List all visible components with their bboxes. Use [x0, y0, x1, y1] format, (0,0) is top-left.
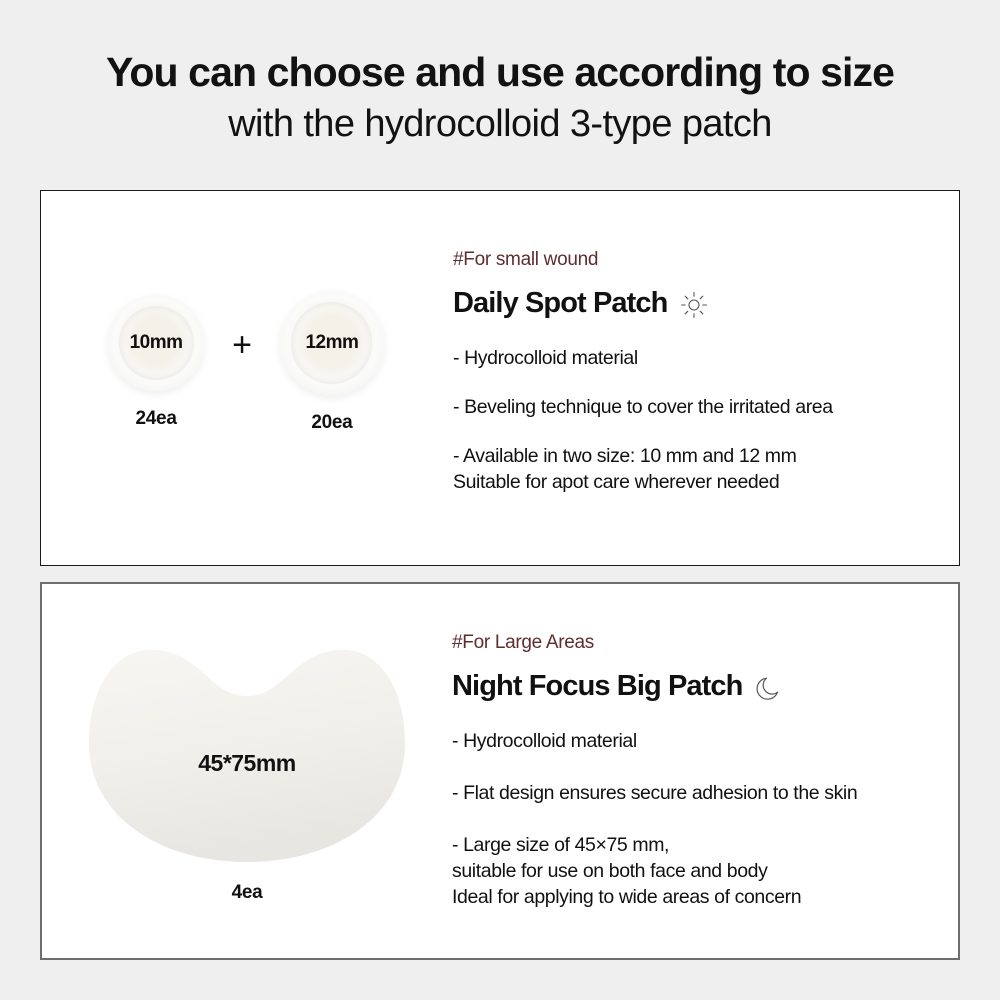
product-tag-small-wound: #For small wound	[453, 249, 953, 271]
product-title-night: Night Focus Big Patch	[452, 670, 742, 703]
headline-line-2: with the hydrocolloid 3-type patch	[0, 102, 1000, 148]
bullet-item: - Hydrocolloid material	[453, 346, 953, 372]
patch-count-label-10mm: 24ea	[136, 408, 177, 430]
product-title-daily: Daily Spot Patch	[453, 287, 667, 320]
patch-circle-12mm: 12mm	[280, 291, 384, 395]
patch-size-label-10mm: 10mm	[130, 332, 183, 354]
bullet-item: - Available in two size: 10 mm and 12 mm…	[453, 444, 953, 496]
product-card-night-focus-big-patch: 45*75mm 4ea #For Large Areas Night Focus…	[40, 582, 960, 960]
spot-patch-10mm: 10mm 24ea	[108, 295, 204, 430]
patch-count-label-12mm: 20ea	[311, 412, 352, 434]
product-title-row-daily: Daily Spot Patch	[453, 287, 953, 320]
headline-line-1: You can choose and use according to size	[0, 50, 1000, 96]
spot-patch-12mm: 12mm 20ea	[280, 291, 384, 434]
page-title: You can choose and use according to size…	[0, 50, 1000, 148]
bullet-item: - Hydrocolloid material	[452, 729, 952, 755]
bullet-item: - Large size of 45×75 mm, suitable for u…	[452, 833, 952, 911]
plus-icon: +	[232, 328, 252, 362]
night-focus-patch-visual: 45*75mm 4ea	[42, 584, 452, 958]
daily-spot-patch-visual: 10mm 24ea + 12mm 20ea	[41, 191, 451, 565]
patch-circle-10mm: 10mm	[108, 295, 204, 391]
big-patch-size-label: 45*75mm	[198, 750, 296, 777]
moon-icon	[754, 673, 784, 703]
infographic-page: You can choose and use according to size…	[0, 0, 1000, 1000]
product-title-row-night: Night Focus Big Patch	[452, 670, 952, 703]
spot-patch-group: 10mm 24ea + 12mm 20ea	[41, 291, 451, 434]
night-focus-patch-bullets: - Hydrocolloid material - Flat design en…	[452, 729, 952, 911]
big-patch-group: 45*75mm 4ea	[42, 636, 452, 904]
big-patch-count-label: 4ea	[232, 882, 263, 904]
night-focus-patch-info: #For Large Areas Night Focus Big Patch -…	[452, 584, 952, 958]
daily-spot-patch-info: #For small wound Daily Spot Patch	[453, 191, 953, 565]
product-tag-large-areas: #For Large Areas	[452, 632, 952, 654]
bullet-item: - Beveling technique to cover the irrita…	[453, 395, 953, 421]
big-patch-shape: 45*75mm	[87, 636, 407, 868]
daily-spot-patch-bullets: - Hydrocolloid material - Beveling techn…	[453, 346, 953, 496]
patch-size-label-12mm: 12mm	[305, 332, 358, 354]
product-card-daily-spot-patch: 10mm 24ea + 12mm 20ea #For small wound	[40, 190, 960, 566]
sun-icon	[679, 290, 709, 320]
bullet-item: - Flat design ensures secure adhesion to…	[452, 781, 952, 807]
